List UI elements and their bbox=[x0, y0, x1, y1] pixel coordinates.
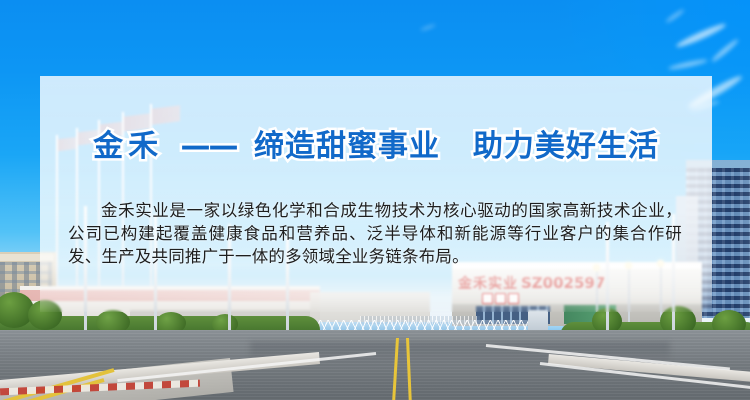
content-panel bbox=[40, 76, 712, 312]
banner-stage: 金禾实业 SZ002597 bbox=[0, 0, 750, 400]
title-brand: 金禾 bbox=[93, 129, 163, 164]
title-part-2: 助力美好生活 bbox=[473, 129, 659, 164]
title-row: 金禾 —— 缔造甜蜜事业 助力美好生活 bbox=[40, 120, 712, 166]
company-description: 金禾实业是一家以绿色化学和合成生物技术为核心驱动的国家高新技术企业，公司已构建起… bbox=[68, 199, 682, 268]
page-title: 金禾 —— 缔造甜蜜事业 助力美好生活 bbox=[93, 121, 659, 165]
title-dash: —— bbox=[175, 129, 243, 164]
title-part-1: 缔造甜蜜事业 bbox=[254, 129, 440, 164]
